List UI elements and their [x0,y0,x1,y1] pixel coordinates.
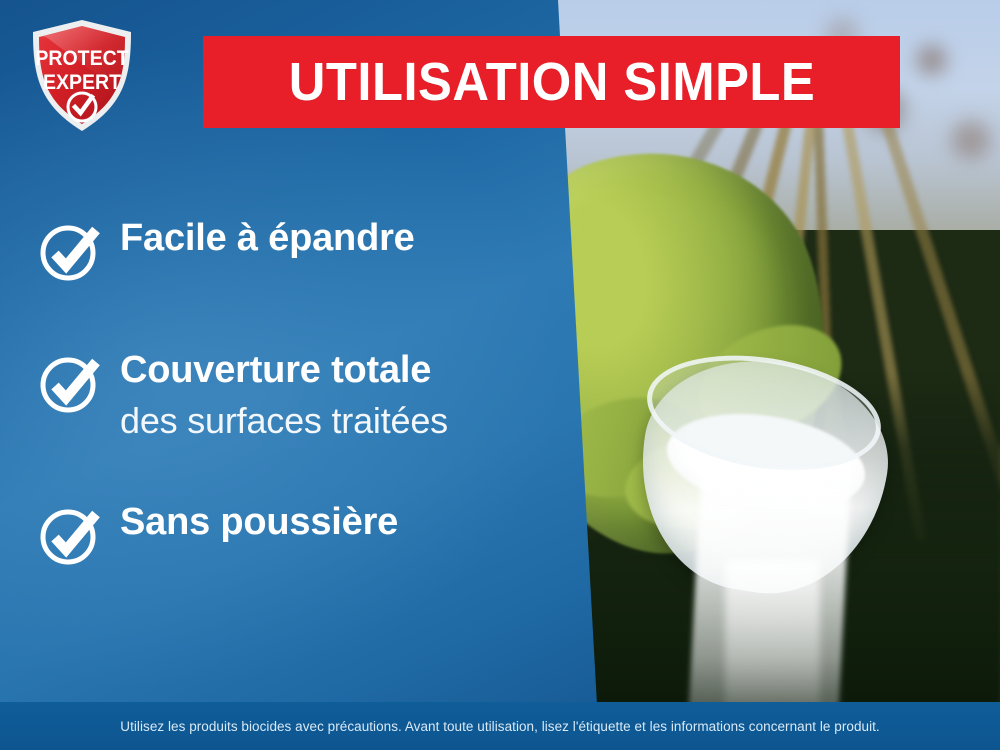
check-circle-icon [36,217,104,285]
check-circle-icon [36,349,104,417]
promo-poster: PROTECT EXPERT UTILISATION SIMPLE Facile… [0,0,1000,750]
benefit-label: Sans poussière [120,503,398,543]
logo-line-2: EXPERT [43,71,122,94]
benefit-text: Sans poussière [120,499,398,543]
protect-expert-shield-logo: PROTECT EXPERT [24,17,140,135]
logo-line-1: PROTECT [35,47,129,70]
title-banner: UTILISATION SIMPLE [203,36,900,128]
legal-footer: Utilisez les produits biocides avec préc… [0,702,1000,750]
benefit-label: Couverture totale [120,351,448,391]
benefit-label: Facile à épandre [120,219,415,259]
benefit-item-facile-a-epandre: Facile à épandre [36,215,576,285]
biocide-disclaimer: Utilisez les produits biocides avec préc… [120,719,879,734]
benefits-list: Facile à épandre Couverture totale des s… [36,215,576,569]
page-title: UTILISATION SIMPLE [288,51,814,113]
check-circle-icon [36,501,104,569]
benefit-item-sans-poussiere: Sans poussière [36,499,576,569]
pouring-powder-stream-secondary [725,560,820,705]
benefit-item-couverture-totale: Couverture totale des surfaces traitées [36,347,576,441]
benefit-sublabel: des surfaces traitées [120,400,448,441]
benefit-text: Facile à épandre [120,215,415,259]
benefit-text: Couverture totale des surfaces traitées [120,347,448,441]
